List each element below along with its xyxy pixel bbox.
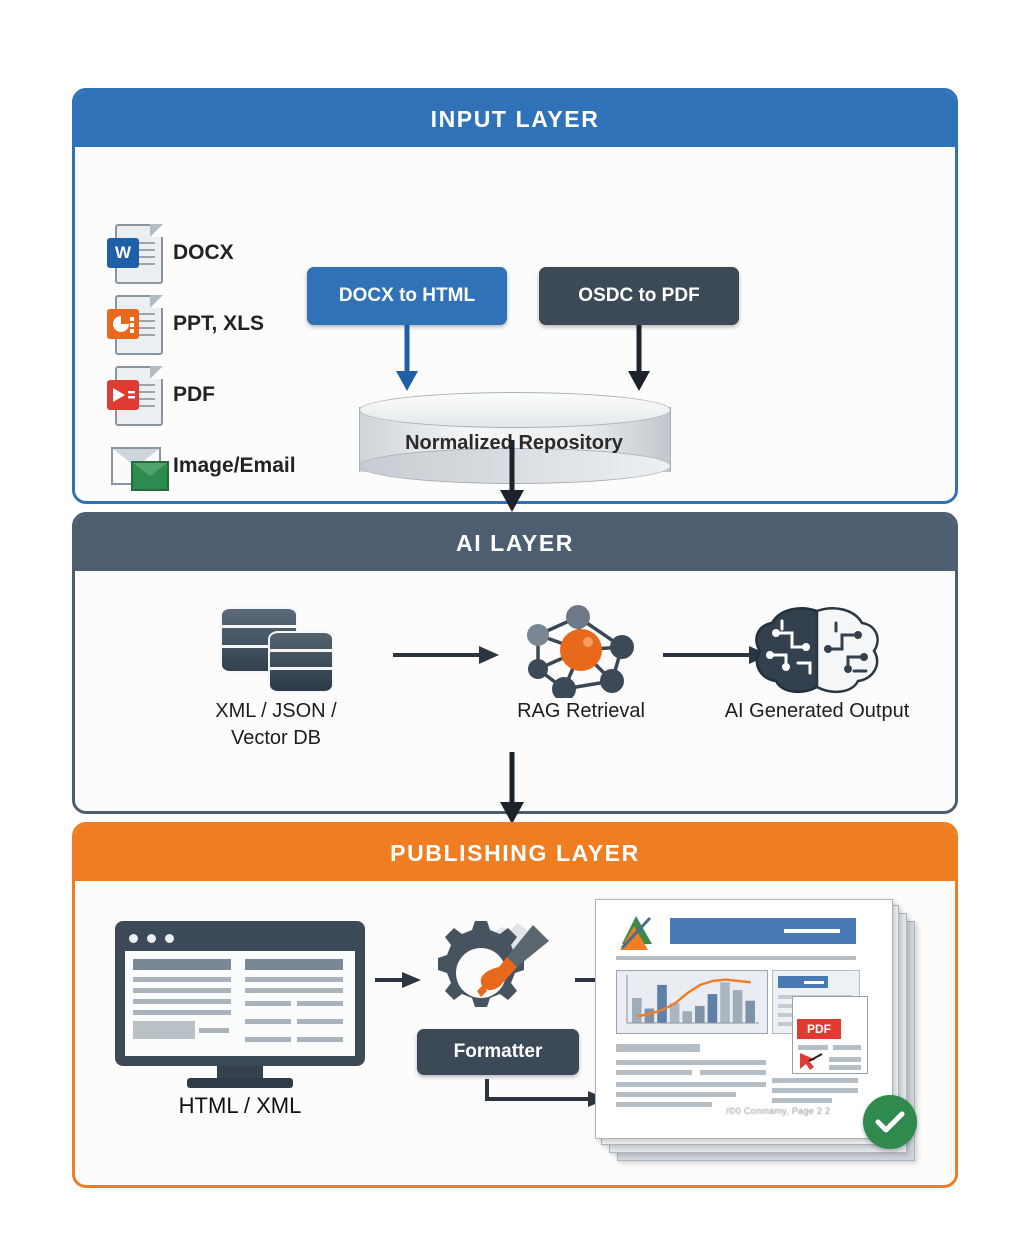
browser-content bbox=[125, 951, 355, 1056]
database-stack-icon bbox=[216, 603, 336, 698]
docx-to-html-button[interactable]: DOCX to HTML bbox=[307, 267, 507, 325]
pdf-badge-label: PDF bbox=[797, 1019, 841, 1039]
pdf-badge-play bbox=[107, 380, 139, 410]
ai-node-label-rag: RAG Retrieval bbox=[453, 698, 709, 725]
ai-node-label-line2: Vector DB bbox=[181, 725, 371, 752]
file-type-list: W DOCX bbox=[105, 217, 296, 501]
document-footer-text: /©0 Conmamy, Page 2 2 bbox=[726, 1106, 876, 1116]
ai-layer-title: AI LAYER bbox=[75, 515, 955, 571]
file-row-ppt-xls[interactable]: PPT, XLS bbox=[105, 288, 296, 359]
file-label-docx: DOCX bbox=[173, 241, 234, 265]
arrow-formatter-elbow-to-docs bbox=[481, 1077, 611, 1121]
document-header-bar bbox=[670, 918, 856, 944]
arrow-osdc-to-repo bbox=[617, 325, 661, 395]
ai-node-vector-db[interactable]: XML / JSON / Vector DB bbox=[181, 603, 371, 752]
brain-circuit-icon bbox=[742, 603, 892, 698]
file-row-image-email[interactable]: Image/Email bbox=[105, 430, 296, 501]
file-label-ppt-xls: PPT, XLS bbox=[173, 312, 264, 336]
formatter-button[interactable]: Formatter bbox=[417, 1029, 579, 1075]
image-email-envelope-icon bbox=[105, 435, 163, 497]
gear-paintbrush-icon bbox=[427, 911, 567, 1026]
arrow-html-to-formatter bbox=[375, 969, 423, 991]
file-row-docx[interactable]: W DOCX bbox=[105, 217, 296, 288]
ai-node-label-line1: XML / JSON / bbox=[181, 698, 371, 725]
network-graph-icon bbox=[516, 603, 646, 698]
monitor-browser-icon[interactable]: HTML / XML bbox=[115, 921, 365, 1086]
cursor-arrow-icon bbox=[798, 1051, 824, 1071]
word-badge-letter: W bbox=[107, 238, 139, 268]
arrow-input-to-ai bbox=[490, 440, 534, 516]
osdc-to-pdf-button[interactable]: OSDC to PDF bbox=[539, 267, 739, 325]
embedded-chart bbox=[616, 970, 768, 1034]
bar-line-chart bbox=[617, 971, 765, 1031]
document-front-page: PDF bbox=[595, 899, 893, 1139]
input-layer-title: INPUT LAYER bbox=[75, 91, 955, 147]
published-document-stack[interactable]: PDF bbox=[595, 899, 925, 1169]
browser-titlebar bbox=[125, 929, 355, 947]
pdf-document-icon bbox=[105, 364, 163, 426]
green-check-icon bbox=[863, 1095, 917, 1149]
ppt-badge bbox=[107, 309, 139, 339]
arrow-docx-to-repo bbox=[385, 325, 429, 395]
publishing-layer-title: PUBLISHING LAYER bbox=[75, 825, 955, 881]
ai-node-ai-output[interactable]: AI Generated Output bbox=[687, 603, 947, 725]
file-label-pdf: PDF bbox=[173, 383, 215, 407]
pie-chart-glyph bbox=[110, 313, 136, 335]
arrow-ai-to-publishing bbox=[490, 752, 534, 828]
embedded-pdf-card: PDF bbox=[792, 996, 868, 1074]
powerpoint-excel-icon bbox=[105, 293, 163, 355]
publishing-layer-panel: PUBLISHING LAYER bbox=[72, 822, 958, 1188]
diagram-canvas: INPUT LAYER W DOCX bbox=[0, 0, 1024, 1243]
file-label-image-email: Image/Email bbox=[173, 454, 296, 478]
play-triangle-glyph bbox=[109, 385, 137, 405]
publishing-layer-body: HTML / XML bbox=[75, 881, 955, 1182]
word-document-icon: W bbox=[105, 222, 163, 284]
monitor-label: HTML / XML bbox=[115, 1093, 365, 1119]
ai-node-label-output: AI Generated Output bbox=[687, 698, 947, 725]
company-logo-icon bbox=[614, 914, 658, 952]
file-row-pdf[interactable]: PDF bbox=[105, 359, 296, 430]
